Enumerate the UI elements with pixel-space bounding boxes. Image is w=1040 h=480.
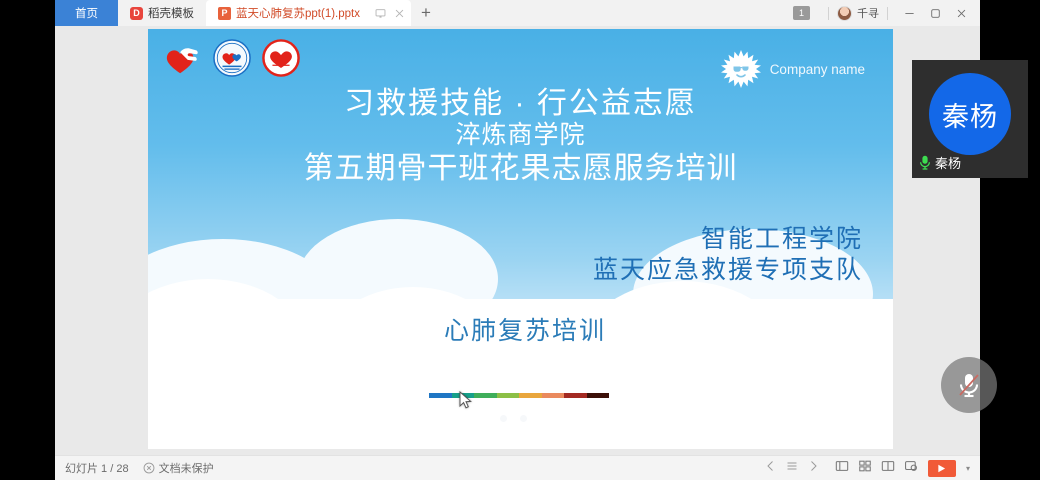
divider	[887, 7, 888, 20]
emblem-logo-icon	[213, 39, 251, 77]
start-slideshow-button[interactable]	[928, 460, 956, 477]
organization-block: 智能工程学院 蓝天应急救援专项支队	[593, 224, 863, 287]
tab-bar: 首页 D 稻壳模板 P 蓝天心肺复苏ppt(1).pptx +	[55, 0, 980, 26]
heart-hand-logo-icon	[164, 39, 202, 77]
organization-logos	[164, 39, 300, 77]
normal-view-icon[interactable]	[835, 459, 849, 478]
close-tab-icon[interactable]	[394, 8, 405, 19]
notification-badge[interactable]: 1	[793, 6, 810, 20]
screen: 首页 D 稻壳模板 P 蓝天心肺复苏ppt(1).pptx +	[0, 0, 1040, 480]
accent-segment	[519, 393, 542, 398]
organization-line-2: 蓝天应急救援专项支队	[593, 255, 863, 286]
present-icon[interactable]	[375, 8, 386, 19]
user-name-label: 千寻	[857, 5, 879, 21]
slide-title-line-1: 习救援技能 · 行公益志愿	[148, 86, 893, 121]
close-button[interactable]	[948, 0, 974, 26]
sun-icon	[721, 49, 761, 89]
status-bar-right: ▾	[765, 459, 970, 478]
heart-circle-logo-icon	[262, 39, 300, 77]
company-branding: Company name	[721, 49, 865, 89]
microphone-muted-icon	[954, 370, 984, 400]
work-area: Company name 习救援技能 · 行公益志愿 淬炼商学院 第五期骨干班花…	[55, 26, 980, 455]
slideshow-options-caret[interactable]: ▾	[966, 464, 970, 473]
slide-title-line-3: 第五期骨干班花果志愿服务培训	[148, 151, 893, 186]
accent-segment	[564, 393, 587, 398]
decorative-dots	[500, 415, 527, 422]
tab-home[interactable]: 首页	[55, 0, 118, 26]
participant-name-row: 秦杨	[919, 153, 961, 172]
participant-avatar: 秦杨	[929, 73, 1011, 155]
avatar[interactable]	[837, 6, 852, 21]
minimize-button[interactable]	[896, 0, 922, 26]
slide-title-block: 习救援技能 · 行公益志愿 淬炼商学院 第五期骨干班花果志愿服务培训	[148, 86, 893, 186]
slide-counter: 幻灯片 1 / 28	[65, 460, 129, 476]
maximize-button[interactable]	[922, 0, 948, 26]
organization-line-1: 智能工程学院	[593, 224, 863, 255]
tab-presentation[interactable]: P 蓝天心肺复苏ppt(1).pptx	[206, 0, 411, 26]
accent-segment	[542, 393, 565, 398]
tab-docer[interactable]: D 稻壳模板	[118, 0, 206, 26]
tab-presentation-label: 蓝天心肺复苏ppt(1).pptx	[236, 5, 360, 21]
new-tab-button[interactable]: +	[411, 0, 441, 26]
slide-topic-label: 心肺复苏培训	[444, 311, 606, 347]
tab-docer-label: 稻壳模板	[148, 5, 194, 21]
divider	[828, 7, 829, 20]
accent-segment	[474, 393, 497, 398]
company-name-label: Company name	[770, 62, 865, 77]
powerpoint-icon: P	[218, 7, 231, 20]
next-slide-icon[interactable]	[807, 459, 819, 477]
slide-canvas[interactable]: Company name 习救援技能 · 行公益志愿 淬炼商学院 第五期骨干班花…	[148, 29, 893, 449]
microphone-active-icon	[919, 155, 931, 170]
reading-view-icon[interactable]	[881, 459, 895, 478]
microphone-mute-button[interactable]	[941, 357, 997, 413]
video-participant-tile[interactable]: 秦杨 秦杨	[912, 60, 1028, 178]
accent-segment	[497, 393, 520, 398]
slide-sorter-icon[interactable]	[858, 459, 872, 478]
color-accent-bar	[429, 393, 609, 398]
status-bar: 幻灯片 1 / 28 文档未保护	[55, 455, 980, 480]
previous-slide-icon[interactable]	[765, 459, 777, 477]
title-bar-right: 1 千寻	[793, 0, 980, 26]
slide-navigation-group	[765, 459, 819, 477]
tab-home-label: 首页	[75, 5, 98, 21]
docer-icon: D	[130, 7, 143, 20]
notes-view-icon[interactable]	[904, 459, 918, 478]
view-mode-group	[835, 459, 918, 478]
document-protection-label: 文档未保护	[159, 460, 214, 476]
document-protection-status[interactable]: 文档未保护	[143, 460, 214, 476]
protection-icon	[143, 462, 155, 474]
accent-segment	[429, 393, 452, 398]
participant-avatar-text: 秦杨	[942, 95, 998, 134]
mouse-cursor	[459, 391, 472, 409]
slide-title-line-2: 淬炼商学院	[148, 121, 893, 151]
wps-office-window: 首页 D 稻壳模板 P 蓝天心肺复苏ppt(1).pptx +	[55, 0, 980, 480]
slide-list-icon[interactable]	[786, 459, 798, 477]
accent-segment	[587, 393, 610, 398]
participant-name-label: 秦杨	[935, 153, 961, 172]
